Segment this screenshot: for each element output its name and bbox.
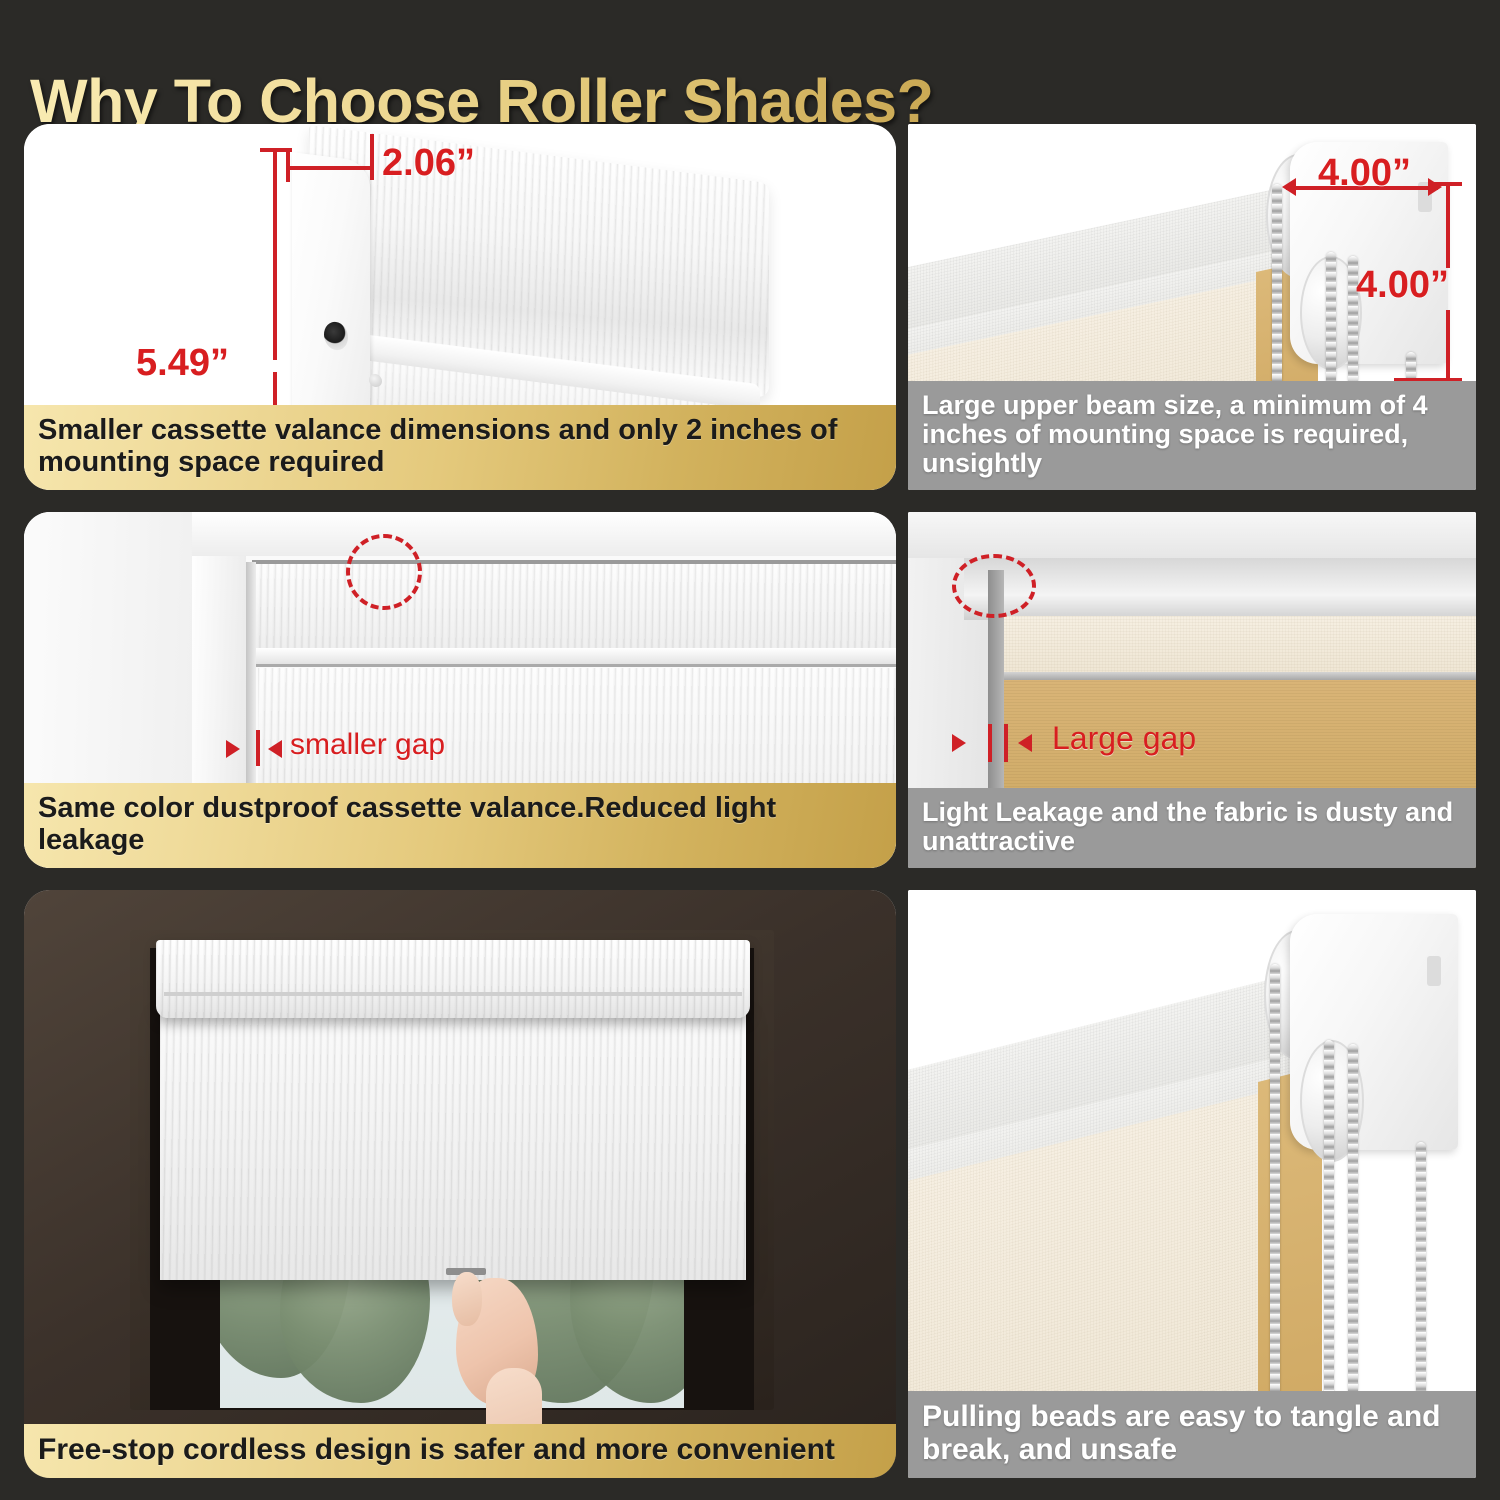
gap-label: smaller gap bbox=[290, 728, 445, 762]
bottom-rail-line bbox=[992, 672, 1476, 680]
gap-marker-b bbox=[1004, 724, 1008, 762]
cream-fabric-roll bbox=[994, 616, 1476, 674]
panel-pro-cordless-design: Free-stop cordless design is safer and m… bbox=[24, 890, 896, 1478]
callout-circle-con bbox=[952, 554, 1036, 618]
width-dimension-label: 4.00” bbox=[1318, 152, 1411, 195]
gap-label-con: Large gap bbox=[1052, 720, 1196, 757]
height-tick-top bbox=[260, 148, 292, 152]
depth-tick-left bbox=[286, 148, 290, 182]
panel-6-caption: Pulling beads are easy to tangle and bre… bbox=[908, 1391, 1476, 1478]
panel-6-image bbox=[908, 890, 1476, 1478]
gap-marker bbox=[256, 730, 260, 766]
valance-shadow-line bbox=[256, 664, 896, 667]
callout-circle bbox=[346, 534, 422, 610]
panel-5-image bbox=[24, 890, 896, 1478]
height-dimension-label: 5.49” bbox=[132, 342, 233, 385]
width-arrow-right bbox=[1428, 178, 1442, 196]
depth-tick-right bbox=[370, 134, 374, 180]
panel-con-light-leakage: Large gap Light Leakage and the fabric i… bbox=[908, 512, 1476, 868]
width-arrow-left bbox=[1282, 178, 1296, 196]
cassette-headrail bbox=[156, 940, 750, 1018]
height-dimension-line bbox=[273, 148, 277, 360]
panel-pro-cassette-size: 2.06” 5.49” Smaller cassette valance dim… bbox=[24, 124, 896, 490]
roller-shade-fabric bbox=[160, 1010, 746, 1280]
bead-chain-b1 bbox=[1270, 964, 1280, 1464]
head-rail bbox=[964, 558, 1476, 620]
finger-thumb bbox=[452, 1272, 482, 1326]
depth-dimension-label: 2.06” bbox=[382, 142, 475, 185]
depth-dimension-line bbox=[286, 166, 374, 170]
infographic-root: Why To Choose Roller Shades? 2.06” 5.49” bbox=[0, 0, 1500, 1500]
panel-con-pulling-beads: Pulling beads are easy to tangle and bre… bbox=[908, 890, 1476, 1478]
panel-2-caption: Large upper beam size, a minimum of 4 in… bbox=[908, 381, 1476, 490]
gap-arrow-right bbox=[268, 740, 282, 758]
height-dimension-line-r bbox=[1446, 182, 1450, 268]
window-frame-top bbox=[192, 512, 896, 556]
height-tick-top-r bbox=[1434, 182, 1462, 186]
panel-pro-dustproof-valance: smaller gap Same color dustproof cassett… bbox=[24, 512, 896, 868]
gap-marker-a bbox=[988, 724, 992, 762]
panel-3-caption: Same color dustproof cassette valance.Re… bbox=[24, 783, 896, 868]
panel-4-caption: Light Leakage and the fabric is dusty an… bbox=[908, 788, 1476, 868]
ceiling-band bbox=[908, 512, 1476, 558]
headrail-seam bbox=[164, 992, 742, 996]
height-dimension-label-r: 4.00” bbox=[1356, 264, 1449, 307]
gap-arrow-right-con bbox=[1018, 734, 1032, 752]
panel-5-caption: Free-stop cordless design is safer and m… bbox=[24, 1424, 896, 1478]
panel-con-beam-size: 4.00” 4.00” Large upper beam size, a min… bbox=[908, 124, 1476, 490]
height-dimension-line-r2 bbox=[1446, 310, 1450, 382]
gap-arrow-left-con bbox=[952, 734, 966, 752]
panel-1-caption: Smaller cassette valance dimensions and … bbox=[24, 405, 896, 490]
gap-arrow-left bbox=[226, 740, 240, 758]
